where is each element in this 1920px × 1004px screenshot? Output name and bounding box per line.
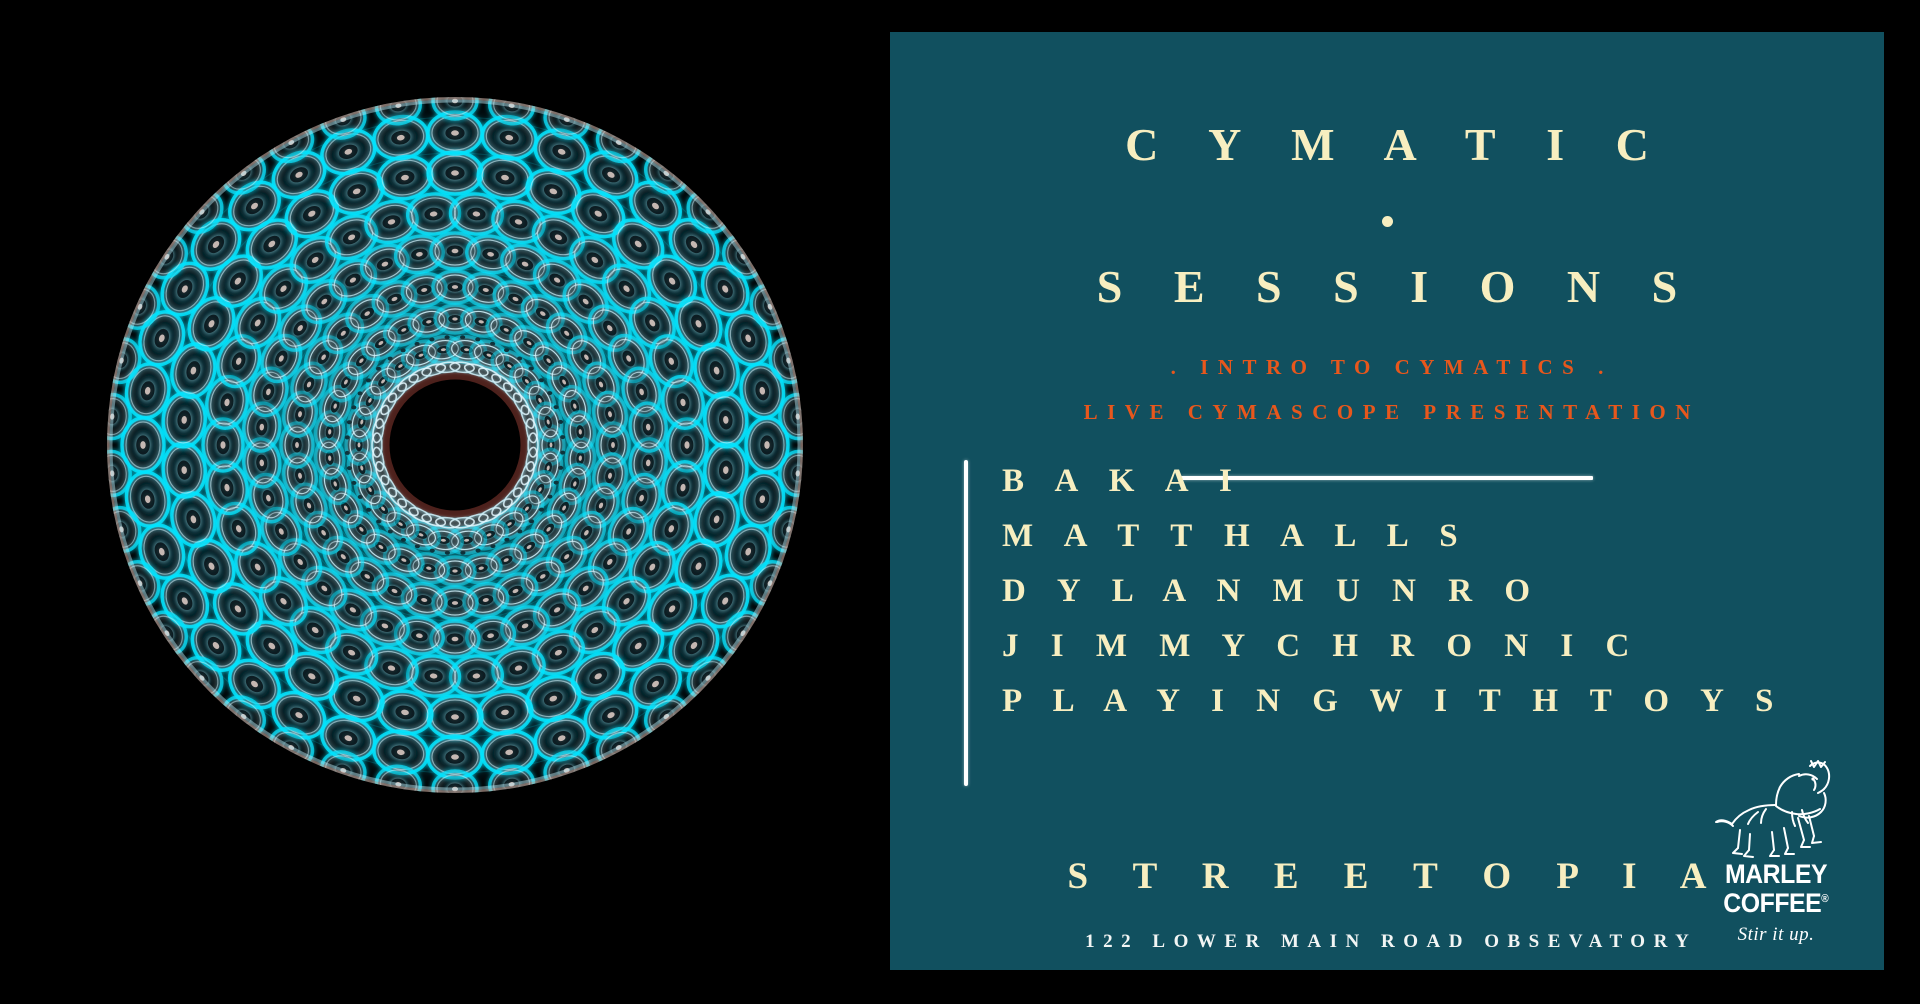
- list-item: P L A Y I N G W I T H T O Y S: [1002, 674, 1785, 729]
- lion-icon: [1714, 752, 1838, 860]
- artwork-pane: [0, 0, 890, 1004]
- cymatic-pattern-image: [55, 45, 855, 845]
- sponsor-name-line-2-wrap: COFFEE®: [1693, 887, 1859, 916]
- sponsor-name-line-1: MARLEY: [1693, 862, 1859, 887]
- page-title-cymatic: C Y M A T I C: [890, 122, 1884, 168]
- lineup-list: B A K A I M A T T H A L L S D Y L A N M …: [1002, 454, 1785, 729]
- sponsor-tagline: Stir it up.: [1686, 924, 1866, 946]
- registered-mark-icon: ®: [1821, 893, 1828, 905]
- lineup-vertical-rule: [964, 460, 968, 786]
- page-title-sessions: S E S S I O N S: [890, 264, 1884, 310]
- title-dot-separator: [890, 214, 1884, 232]
- list-item: M A T T H A L L S: [1002, 509, 1785, 564]
- list-item: B A K A I: [1002, 454, 1785, 509]
- sponsor-name-line-2: COFFEE: [1723, 888, 1821, 918]
- subtitle-line-1: . INTRO TO CYMATICS .: [890, 357, 1884, 378]
- list-item: D Y L A N M U N R O: [1002, 564, 1785, 619]
- sponsor-wordmark: MARLEY COFFEE®: [1693, 862, 1859, 916]
- subtitle-line-2: LIVE CYMASCOPE PRESENTATION: [890, 402, 1884, 423]
- list-item: J I M M Y C H R O N I C: [1002, 619, 1785, 674]
- event-poster: C Y M A T I C S E S S I O N S . INTRO TO…: [0, 0, 1920, 1004]
- poster-card: C Y M A T I C S E S S I O N S . INTRO TO…: [890, 32, 1884, 970]
- marley-coffee-logo: MARLEY COFFEE® Stir it up.: [1686, 752, 1866, 962]
